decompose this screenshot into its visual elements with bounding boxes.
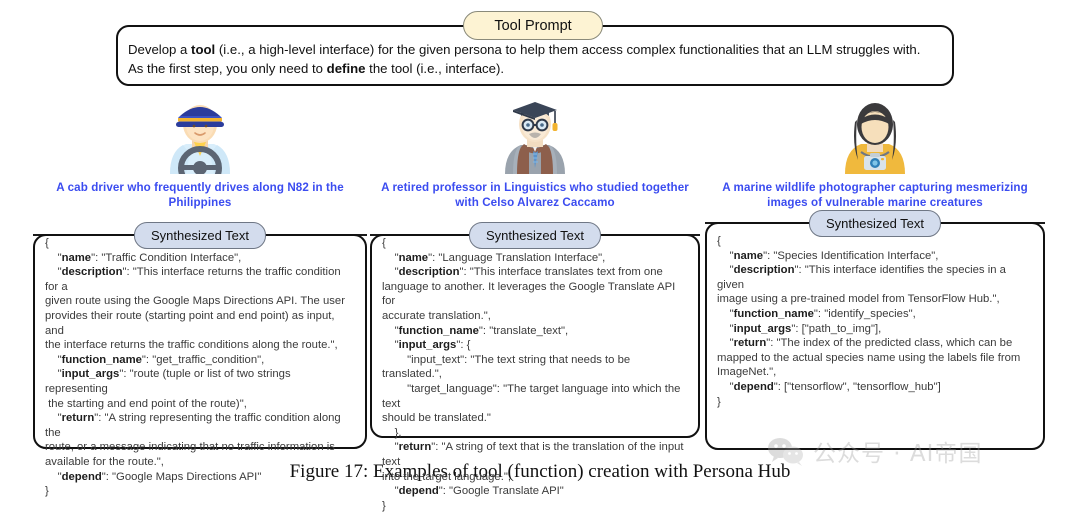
synthesized-text-badge-0: Synthesized Text bbox=[134, 222, 266, 249]
synthesized-wrap-2: Synthesized Text { "name": "Species Iden… bbox=[705, 210, 1045, 419]
define-keyword: define bbox=[327, 61, 366, 76]
persona-description-0: A cab driver who frequently drives along… bbox=[33, 180, 367, 210]
tool-prompt-text: Develop a tool (i.e., a high-level inter… bbox=[128, 40, 944, 78]
synthesized-text-badge-2: Synthesized Text bbox=[809, 210, 941, 237]
tool-prompt-line-2: As the first step, you only need to defi… bbox=[128, 59, 944, 78]
synthesized-wrap-0: Synthesized Text { "name": "Traffic Cond… bbox=[33, 222, 367, 509]
cab-driver-avatar bbox=[33, 92, 367, 174]
cab-driver-avatar-icon bbox=[156, 94, 244, 174]
synthesized-text-badge-label-2: Synthesized Text bbox=[826, 216, 924, 231]
persona-column-2: A marine wildlife photographer capturing… bbox=[705, 92, 1045, 419]
synthesized-wrap-1: Synthesized Text { "name": "Language Tra… bbox=[370, 222, 700, 523]
synthesized-json-1: { "name": "Language Translation Interfac… bbox=[370, 222, 700, 523]
synthesized-text-badge-1: Synthesized Text bbox=[469, 222, 601, 249]
professor-avatar-icon bbox=[491, 94, 579, 174]
synthesized-text-badge-label-1: Synthesized Text bbox=[486, 228, 584, 243]
professor-avatar bbox=[370, 92, 700, 174]
synthesized-json-0: { "name": "Traffic Condition Interface",… bbox=[33, 222, 367, 509]
persona-column-0: A cab driver who frequently drives along… bbox=[33, 92, 367, 509]
persona-column-1: A retired professor in Linguistics who s… bbox=[370, 92, 700, 523]
persona-description-2: A marine wildlife photographer capturing… bbox=[705, 180, 1045, 210]
tool-prompt-badge-label: Tool Prompt bbox=[494, 18, 571, 34]
tool-keyword: tool bbox=[191, 42, 215, 57]
photographer-avatar-icon bbox=[831, 94, 919, 174]
tool-prompt-badge: Tool Prompt bbox=[463, 11, 603, 40]
persona-description-1: A retired professor in Linguistics who s… bbox=[370, 180, 700, 210]
synthesized-json-2: { "name": "Species Identification Interf… bbox=[705, 210, 1045, 419]
tool-prompt-line-1: Develop a tool (i.e., a high-level inter… bbox=[128, 40, 944, 59]
photographer-avatar bbox=[705, 92, 1045, 174]
synthesized-text-badge-label-0: Synthesized Text bbox=[151, 228, 249, 243]
